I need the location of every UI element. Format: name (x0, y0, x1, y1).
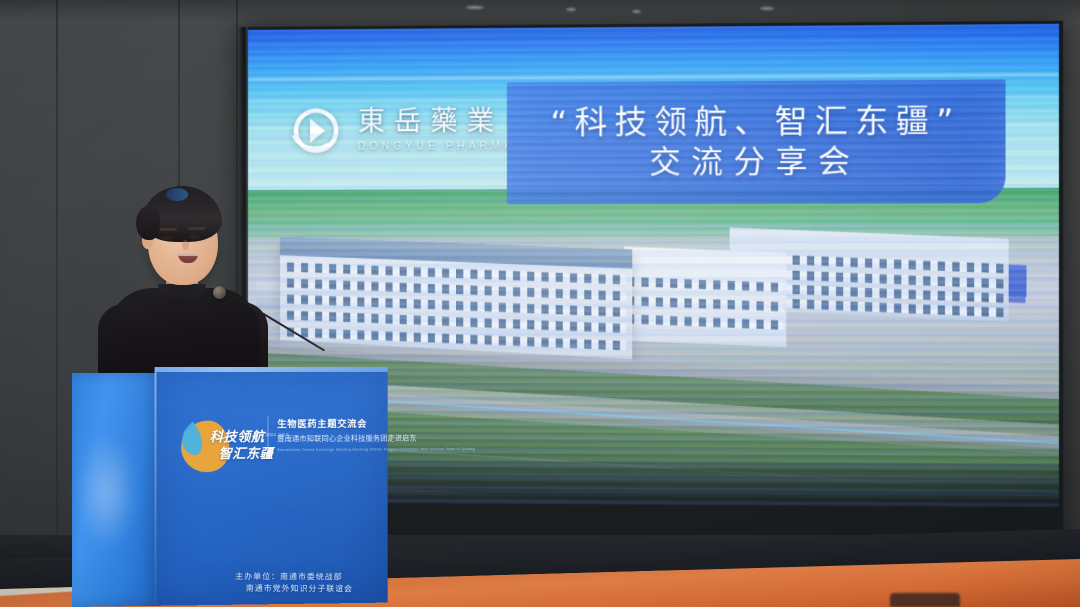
screen-title-banner: “科技领航、智汇东疆” 交流分享会 (507, 80, 1005, 204)
microphone-head-icon (213, 286, 226, 299)
podium-logo-divider (267, 416, 268, 450)
podium-heading: 生物医药主题交流会 暨南通市知联同心企业科技服务团走进启东 Biomedicin… (277, 416, 393, 452)
photo-scene: 東岳藥業 DONGYUE PHARMA “科技领航、智汇东疆” 交流分享会 (0, 0, 1080, 607)
brand-chinese-name: 東岳藥業 (358, 108, 515, 136)
floor-object (890, 593, 960, 607)
dongyue-d-logo-icon (288, 103, 344, 159)
dongyue-brand-lockup: 東岳藥業 DONGYUE PHARMA (288, 102, 516, 159)
ceiling-light-icon (466, 6, 484, 9)
speaker-hair-bun (136, 206, 160, 240)
ceiling-shadow (0, 0, 1080, 22)
podium-heading-main: 生物医药主题交流会 (277, 416, 393, 430)
podium-footer-line2: 南通市党外知识分子联谊会 (212, 583, 385, 596)
screen-title-line1: “科技领航、智汇东疆” (550, 105, 960, 139)
ceiling-light-icon (632, 10, 641, 13)
ceiling-light-icon (760, 7, 774, 10)
podium-side-panel (72, 373, 157, 607)
screen-title-line2: 交流分享会 (649, 147, 860, 179)
podium-logo-line2: 智汇东疆 (219, 448, 274, 462)
speaker-figure (92, 184, 282, 384)
podium-logo-line1: 科技领航 (210, 431, 274, 445)
brand-english-name: DONGYUE PHARMA (358, 140, 515, 153)
photo-building (624, 246, 787, 347)
podium-heading-english: Biomedicine Theme Exchange Meeting Nanto… (277, 446, 393, 453)
speaker-hair-highlight (166, 188, 188, 201)
podium: 科技领航 智汇东疆 2024 JULY 生物医药主题交流会 暨南通市知联同心企业… (72, 367, 388, 607)
podium-footer: 主办单位：南通市委统战部 南通市党外知识分子联谊会 (191, 571, 386, 595)
wall-seam (56, 0, 58, 607)
ceiling-light-icon (566, 8, 576, 11)
podium-heading-sub: 暨南通市知联同心企业科技服务团走进启东 (277, 432, 393, 443)
